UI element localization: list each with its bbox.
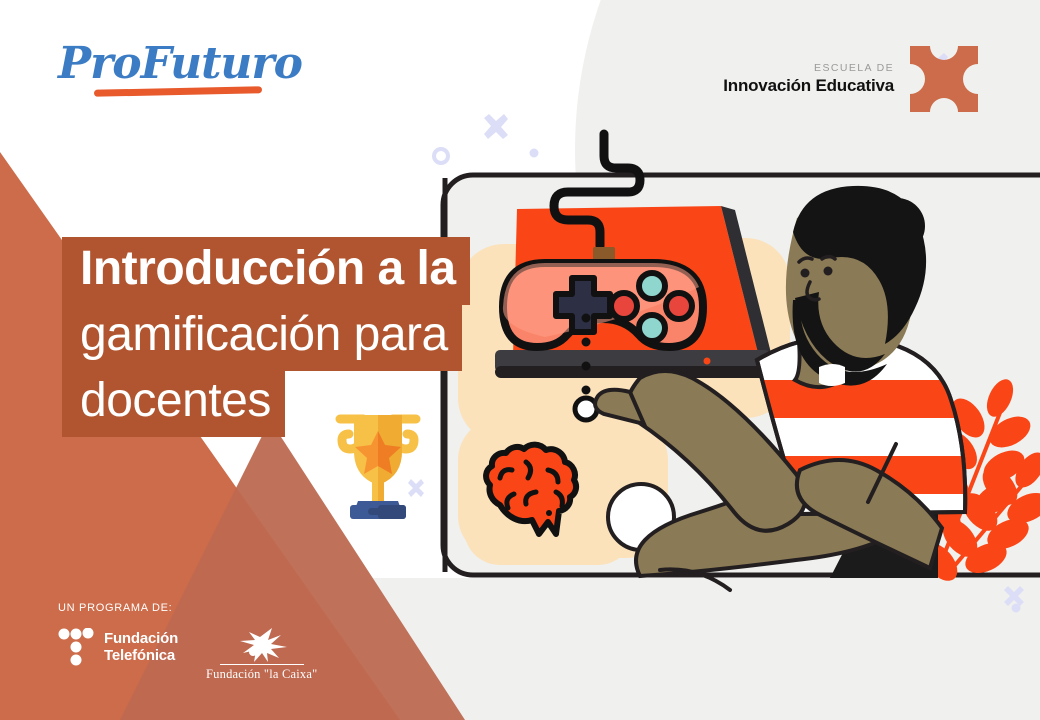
page-title: Introducción a la gamificación para doce… [62, 237, 470, 437]
fundacion-telefonica-logo[interactable]: Fundación Telefónica [58, 628, 178, 666]
escuela-eyebrow: ESCUELA DE [723, 62, 894, 75]
profuturo-logo[interactable]: ProFuturo [58, 38, 288, 100]
fundacion-la-caixa-logo[interactable]: Fundación "la Caixa" [206, 628, 317, 682]
profuturo-wordmark: ProFuturo [58, 38, 288, 90]
title-line-2: gamificación para [62, 303, 462, 371]
cover-slide: ProFuturo ESCUELA DE Innovación Educativ… [0, 0, 1040, 720]
program-label: UN PROGRAMA DE: [58, 602, 172, 614]
telefonica-text: Fundación Telefónica [104, 630, 178, 664]
telefonica-line-2: Telefónica [104, 647, 178, 664]
escuela-innovacion-logo[interactable]: ESCUELA DE Innovación Educativa [723, 44, 982, 114]
escuela-name: Innovación Educativa [723, 75, 894, 96]
telefonica-line-1: Fundación [104, 630, 178, 647]
caixa-rule [220, 664, 304, 665]
x-bowtie-icon [906, 44, 982, 114]
star-icon [231, 628, 293, 662]
caixa-text: Fundación "la Caixa" [206, 667, 317, 682]
title-line-1: Introducción a la [62, 237, 470, 305]
title-line-3: docentes [62, 369, 285, 437]
escuela-logo-text: ESCUELA DE Innovación Educativa [723, 62, 894, 96]
footer-logos: Fundación Telefónica Fundación "la Caixa… [58, 628, 317, 682]
dot-t-icon [58, 628, 94, 666]
